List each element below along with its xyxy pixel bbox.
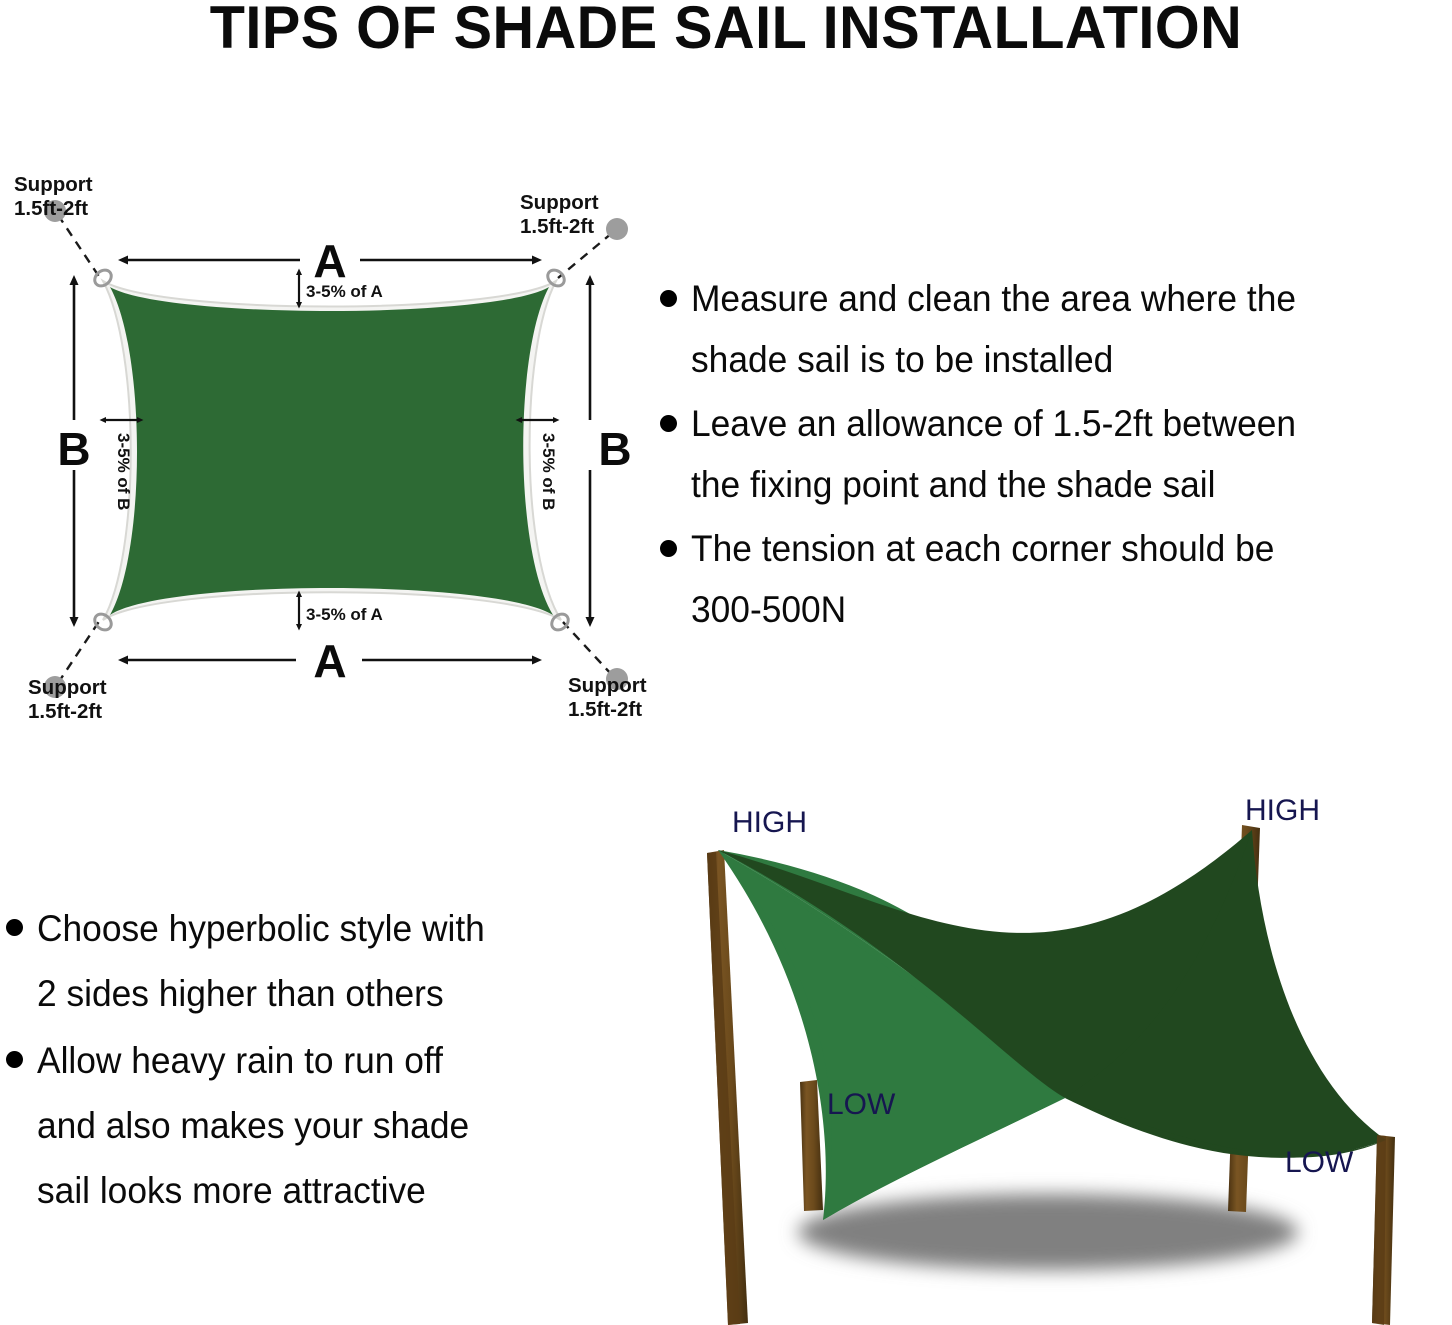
curvature-bottom-label: 3-5% of A [306, 605, 383, 624]
sail-body-green [110, 287, 553, 615]
tips-list-left: Choose hyperbolic style with 2 sides hig… [6, 896, 626, 1225]
dim-label-B-left: B [57, 423, 90, 475]
tip-line: The tension at each corner should be [691, 528, 1274, 569]
post-low-right-front [1372, 1135, 1386, 1325]
bullet-dot-icon [660, 415, 677, 432]
infographic-page: TIPS OF SHADE SAIL INSTALLATION [0, 0, 1452, 1325]
list-item: Choose hyperbolic style with 2 sides hig… [6, 896, 626, 1026]
dim-label-A-top: A [313, 235, 346, 287]
support-label-bottom-left-line2: 1.5ft-2ft [28, 700, 102, 723]
support-label-bottom-left: Support 1.5ft-2ft [28, 676, 107, 723]
tip-line: 2 sides higher than others [37, 973, 444, 1014]
support-label-top-right: Support 1.5ft-2ft [520, 191, 599, 238]
dim-label-B-right: B [598, 423, 631, 475]
tip-line: and also makes your shade [37, 1105, 469, 1146]
ground-shadow [798, 1194, 1298, 1270]
support-label-top-left-line1: Support [14, 173, 93, 196]
support-leader-top-left [58, 215, 100, 278]
page-title: TIPS OF SHADE SAIL INSTALLATION [29, 0, 1423, 59]
support-label-bottom-right: Support 1.5ft-2ft [568, 674, 647, 721]
list-item: Measure and clean the area where the sha… [660, 268, 1452, 390]
support-label-top-left: Support 1.5ft-2ft [14, 173, 93, 220]
curvature-right-label: 3-5% of B [539, 433, 558, 510]
support-label-top-right-line1: Support [520, 191, 599, 214]
curvature-bottom: 3-5% of A [299, 597, 383, 624]
tip-text: Choose hyperbolic style with 2 sides hig… [37, 896, 485, 1026]
post-low-left [800, 1080, 823, 1211]
tip-line: the fixing point and the shade sail [691, 464, 1216, 505]
label-high-left: HIGH [732, 806, 807, 839]
list-item: Leave an allowance of 1.5-2ft between th… [660, 393, 1452, 515]
support-label-bottom-right-line1: Support [568, 674, 647, 697]
bullet-dot-icon [660, 540, 677, 557]
tip-text: The tension at each corner should be 300… [691, 518, 1274, 640]
label-low-right: LOW [1285, 1146, 1354, 1179]
curvature-left-label: 3-5% of B [114, 433, 133, 510]
dimension-width-bottom: A [128, 635, 532, 687]
support-leader-top-right [558, 233, 612, 278]
label-low-left: LOW [827, 1088, 896, 1121]
dim-label-A-bottom: A [313, 635, 346, 687]
curvature-top-label: 3-5% of A [306, 282, 383, 301]
tips-list-right: Measure and clean the area where the sha… [660, 268, 1452, 643]
support-label-top-left-line2: 1.5ft-2ft [14, 197, 88, 220]
tip-text: Leave an allowance of 1.5-2ft between th… [691, 393, 1296, 515]
rect-sail-diagram: A A B B 3-5% [0, 165, 660, 735]
bullet-dot-icon [6, 919, 23, 936]
tip-text: Allow heavy rain to run off and also mak… [37, 1028, 469, 1223]
tip-line: shade sail is to be installed [691, 339, 1113, 380]
list-item: The tension at each corner should be 300… [660, 518, 1452, 640]
support-label-top-right-line2: 1.5ft-2ft [520, 215, 594, 238]
support-leader-bottom-right [563, 622, 612, 675]
tip-line: 300-500N [691, 589, 846, 630]
support-leader-bottom-left [58, 620, 100, 683]
dimension-height-left: B [57, 285, 90, 617]
tip-line: Allow heavy rain to run off [37, 1040, 443, 1081]
tip-text: Measure and clean the area where the sha… [691, 268, 1296, 390]
tip-line: Leave an allowance of 1.5-2ft between [691, 403, 1296, 444]
list-item: Allow heavy rain to run off and also mak… [6, 1028, 626, 1223]
label-high-right: HIGH [1245, 794, 1320, 827]
support-label-bottom-right-line2: 1.5ft-2ft [568, 698, 642, 721]
support-label-bottom-left-line1: Support [28, 676, 107, 699]
hyperbolic-sail-diagram: HIGH HIGH LOW LOW [660, 780, 1452, 1325]
bullet-dot-icon [6, 1051, 23, 1068]
curvature-left: 3-5% of B [106, 420, 137, 510]
tip-line: sail looks more attractive [37, 1170, 426, 1211]
support-dot-top-right [606, 218, 628, 240]
tip-line: Choose hyperbolic style with [37, 908, 485, 949]
bullet-dot-icon [660, 290, 677, 307]
tip-line: Measure and clean the area where the [691, 278, 1296, 319]
dimension-width-top: A [128, 235, 532, 287]
dimension-height-right: B [590, 285, 632, 617]
